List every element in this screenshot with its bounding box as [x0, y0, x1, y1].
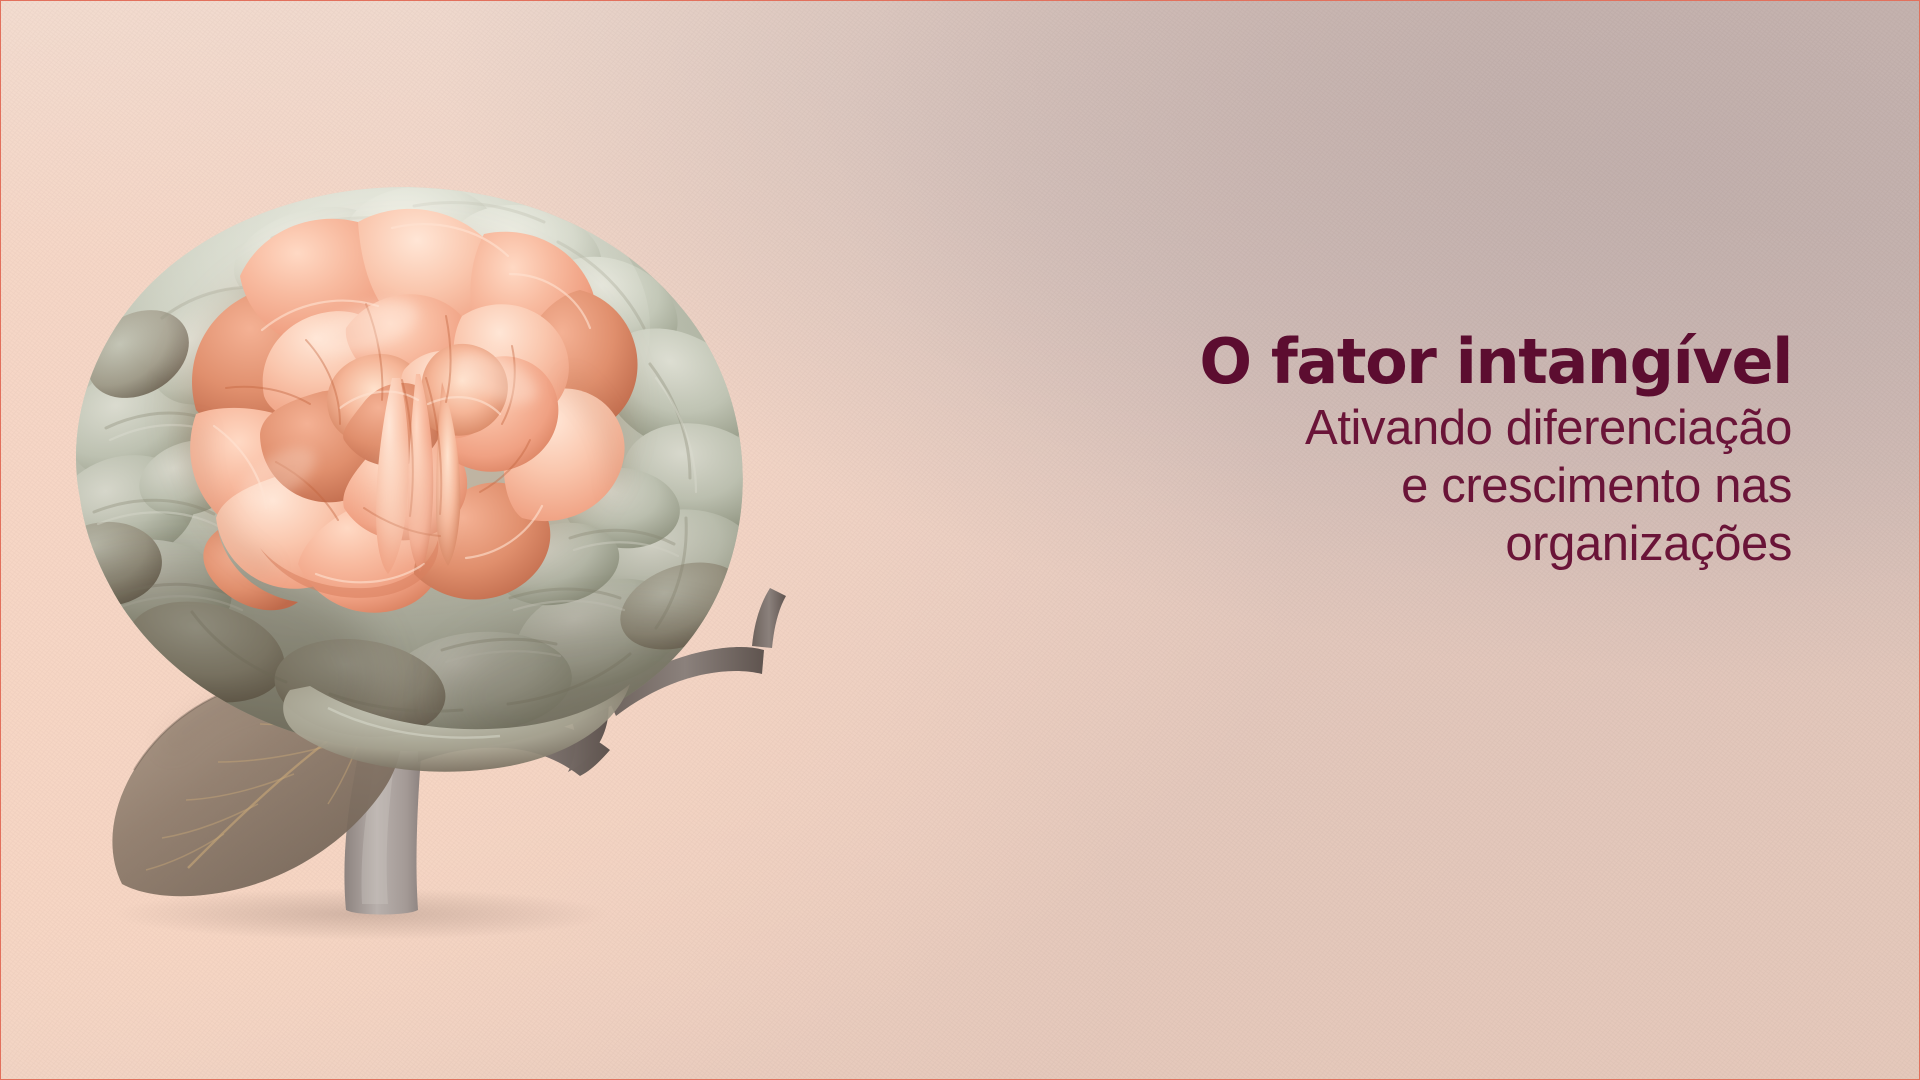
page-title: O fator intangível [1092, 330, 1792, 394]
subtitle-line-1: Ativando diferenciação [1092, 400, 1792, 458]
subtitle-line-3: organizações [1092, 516, 1792, 574]
brain-flower-tree-illustration [10, 78, 810, 978]
subtitle-line-2: e crescimento nas [1092, 458, 1792, 516]
page-subtitle: Ativando diferenciação e crescimento nas… [1092, 400, 1792, 573]
slide-canvas: O fator intangível Ativando diferenciaçã… [0, 0, 1920, 1080]
title-text-block: O fator intangível Ativando diferenciaçã… [1092, 330, 1792, 574]
